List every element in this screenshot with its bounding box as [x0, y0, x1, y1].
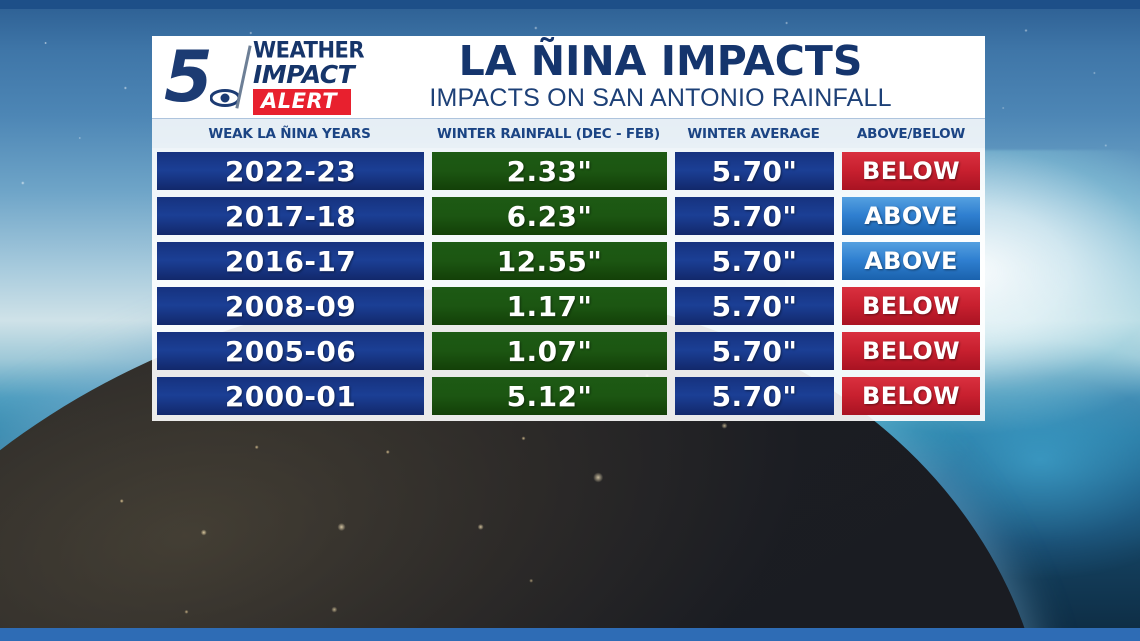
- cell-rainfall: 1.07": [432, 332, 667, 370]
- page-subtitle: IMPACTS ON SAN ANTONIO RAINFALL: [364, 84, 957, 113]
- column-header-years: WEAK LA ÑINA YEARS: [152, 126, 427, 142]
- cell-rainfall: 6.23": [432, 197, 667, 235]
- table-body: 2022-23 2.33" 5.70" BELOW 2017-18 6.23" …: [152, 148, 985, 421]
- cell-year: 2000-01: [157, 377, 424, 415]
- bottom-bar: [0, 628, 1140, 641]
- cell-rainfall: 2.33": [432, 152, 667, 190]
- weather-impact-alert-lockup: WEATHER IMPACT ALERT: [253, 40, 364, 115]
- station-logo: 5 WEATHER IMPACT ALERT: [160, 40, 364, 115]
- cell-rainfall: 1.17": [432, 287, 667, 325]
- cell-average: 5.70": [675, 377, 834, 415]
- table-row: 2000-01 5.12" 5.70" BELOW: [157, 377, 980, 415]
- status-badge: ABOVE: [842, 197, 980, 235]
- cell-rainfall: 5.12": [432, 377, 667, 415]
- cell-average: 5.70": [675, 332, 834, 370]
- column-header-status: ABOVE/BELOW: [837, 126, 985, 142]
- title-block: LA ÑINA IMPACTS IMPACTS ON SAN ANTONIO R…: [364, 41, 981, 113]
- cell-year: 2017-18: [157, 197, 424, 235]
- column-header-row: WEAK LA ÑINA YEARS WINTER RAINFALL (DEC …: [152, 118, 985, 148]
- page-title: LA ÑINA IMPACTS: [364, 41, 957, 83]
- cell-average: 5.70": [675, 152, 834, 190]
- table-panel: 5 WEATHER IMPACT ALERT LA ÑINA IMPACTS I…: [152, 36, 985, 423]
- cell-rainfall: 12.55": [432, 242, 667, 280]
- table-row: 2008-09 1.17" 5.70" BELOW: [157, 287, 980, 325]
- five-numeral: 5: [164, 36, 211, 118]
- broadcast-graphic: 5 WEATHER IMPACT ALERT LA ÑINA IMPACTS I…: [0, 0, 1140, 641]
- status-badge: ABOVE: [842, 242, 980, 280]
- cell-average: 5.70": [675, 197, 834, 235]
- table-row: 2005-06 1.07" 5.70" BELOW: [157, 332, 980, 370]
- cell-average: 5.70": [675, 242, 834, 280]
- table-row: 2017-18 6.23" 5.70" ABOVE: [157, 197, 980, 235]
- status-badge: BELOW: [842, 332, 980, 370]
- cell-year: 2008-09: [157, 287, 424, 325]
- status-badge: BELOW: [842, 152, 980, 190]
- top-bar: [0, 0, 1140, 9]
- table-row: 2022-23 2.33" 5.70" BELOW: [157, 152, 980, 190]
- status-badge: BELOW: [842, 377, 980, 415]
- impact-word: IMPACT: [253, 62, 354, 87]
- cell-average: 5.70": [675, 287, 834, 325]
- channel-five-mark: 5: [164, 44, 240, 110]
- status-badge: BELOW: [842, 287, 980, 325]
- graphic-header: 5 WEATHER IMPACT ALERT LA ÑINA IMPACTS I…: [152, 36, 985, 118]
- cell-year: 2016-17: [157, 242, 424, 280]
- alert-badge: ALERT: [253, 89, 351, 115]
- column-header-rainfall: WINTER RAINFALL (DEC - FEB): [427, 126, 670, 142]
- weather-word: WEATHER: [253, 39, 364, 61]
- cell-year: 2022-23: [157, 152, 424, 190]
- table-row: 2016-17 12.55" 5.70" ABOVE: [157, 242, 980, 280]
- cell-year: 2005-06: [157, 332, 424, 370]
- column-header-average: WINTER AVERAGE: [670, 126, 837, 142]
